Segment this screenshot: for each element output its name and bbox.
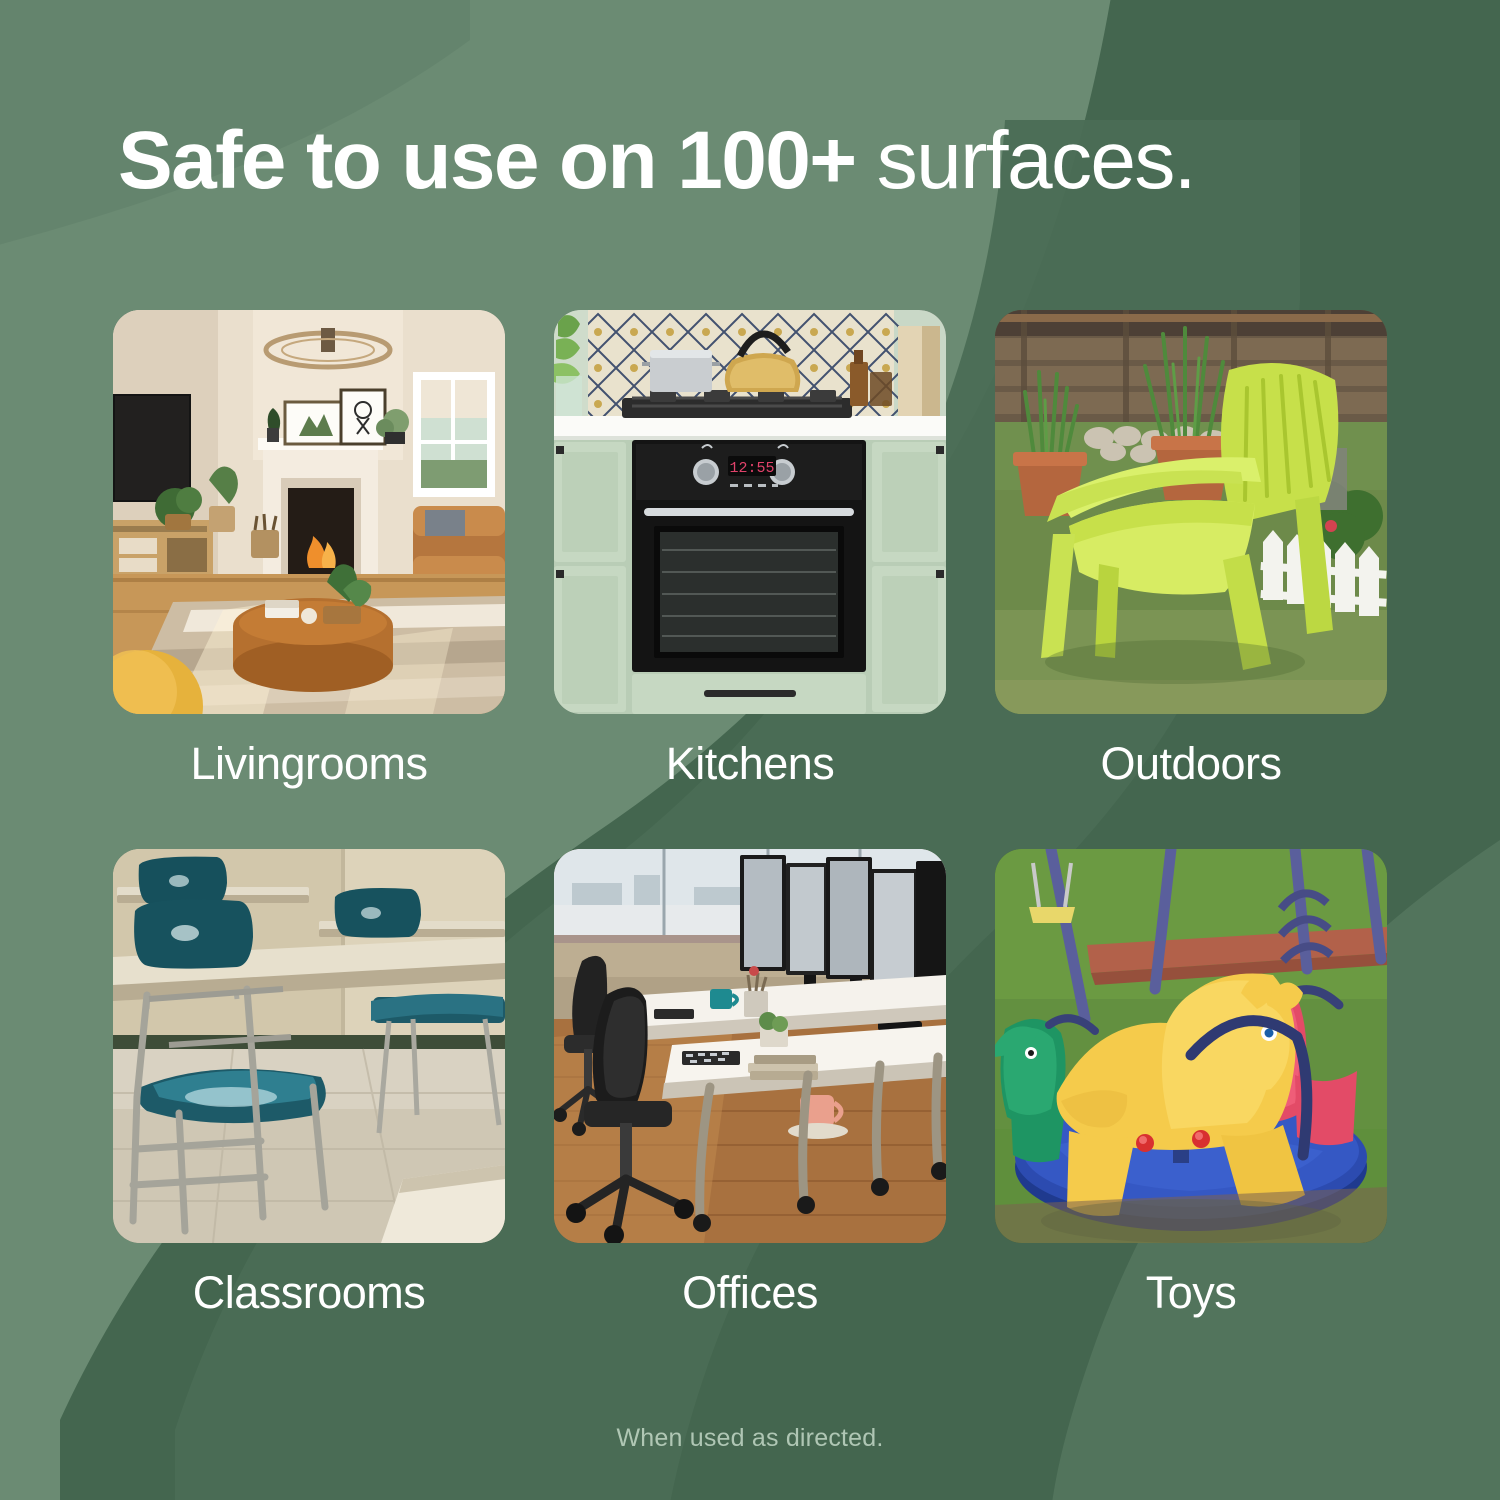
tile-image-offices [554, 849, 946, 1243]
headline-strong: Safe to use on 100+ [118, 115, 856, 206]
tile-toys[interactable]: Toys [995, 849, 1387, 1316]
tile-outdoors[interactable]: Outdoors [995, 310, 1387, 787]
footnote-disclaimer: When used as directed. [0, 1424, 1500, 1453]
tile-caption-kitchens: Kitchens [554, 740, 946, 787]
headline: Safe to use on 100+ surfaces. [118, 118, 1418, 205]
tile-classrooms[interactable]: Classrooms [113, 849, 505, 1316]
promo-canvas: Safe to use on 100+ surfaces. [0, 0, 1500, 1500]
toys-illustration [995, 849, 1387, 1243]
tile-livingrooms[interactable]: Livingrooms [113, 310, 505, 787]
surface-tile-grid: Livingrooms [113, 310, 1388, 1317]
outdoors-illustration [995, 310, 1387, 714]
headline-light: surfaces. [856, 115, 1195, 206]
tile-caption-toys: Toys [995, 1269, 1387, 1316]
livingroom-illustration [113, 310, 505, 714]
oven-display-text: 12:55 [729, 460, 774, 477]
kitchen-illustration: 12:55 [554, 310, 946, 714]
tile-image-classrooms [113, 849, 505, 1243]
tile-caption-classrooms: Classrooms [113, 1269, 505, 1316]
tile-image-toys [995, 849, 1387, 1243]
tile-offices[interactable]: Offices [554, 849, 946, 1316]
tile-image-livingrooms [113, 310, 505, 714]
tile-caption-livingrooms: Livingrooms [113, 740, 505, 787]
tile-caption-offices: Offices [554, 1269, 946, 1316]
tile-image-kitchens: 12:55 [554, 310, 946, 714]
tile-image-outdoors [995, 310, 1387, 714]
office-illustration [554, 849, 946, 1243]
tile-caption-outdoors: Outdoors [995, 740, 1387, 787]
tile-kitchens[interactable]: 12:55 [554, 310, 946, 787]
classroom-illustration [113, 849, 505, 1243]
